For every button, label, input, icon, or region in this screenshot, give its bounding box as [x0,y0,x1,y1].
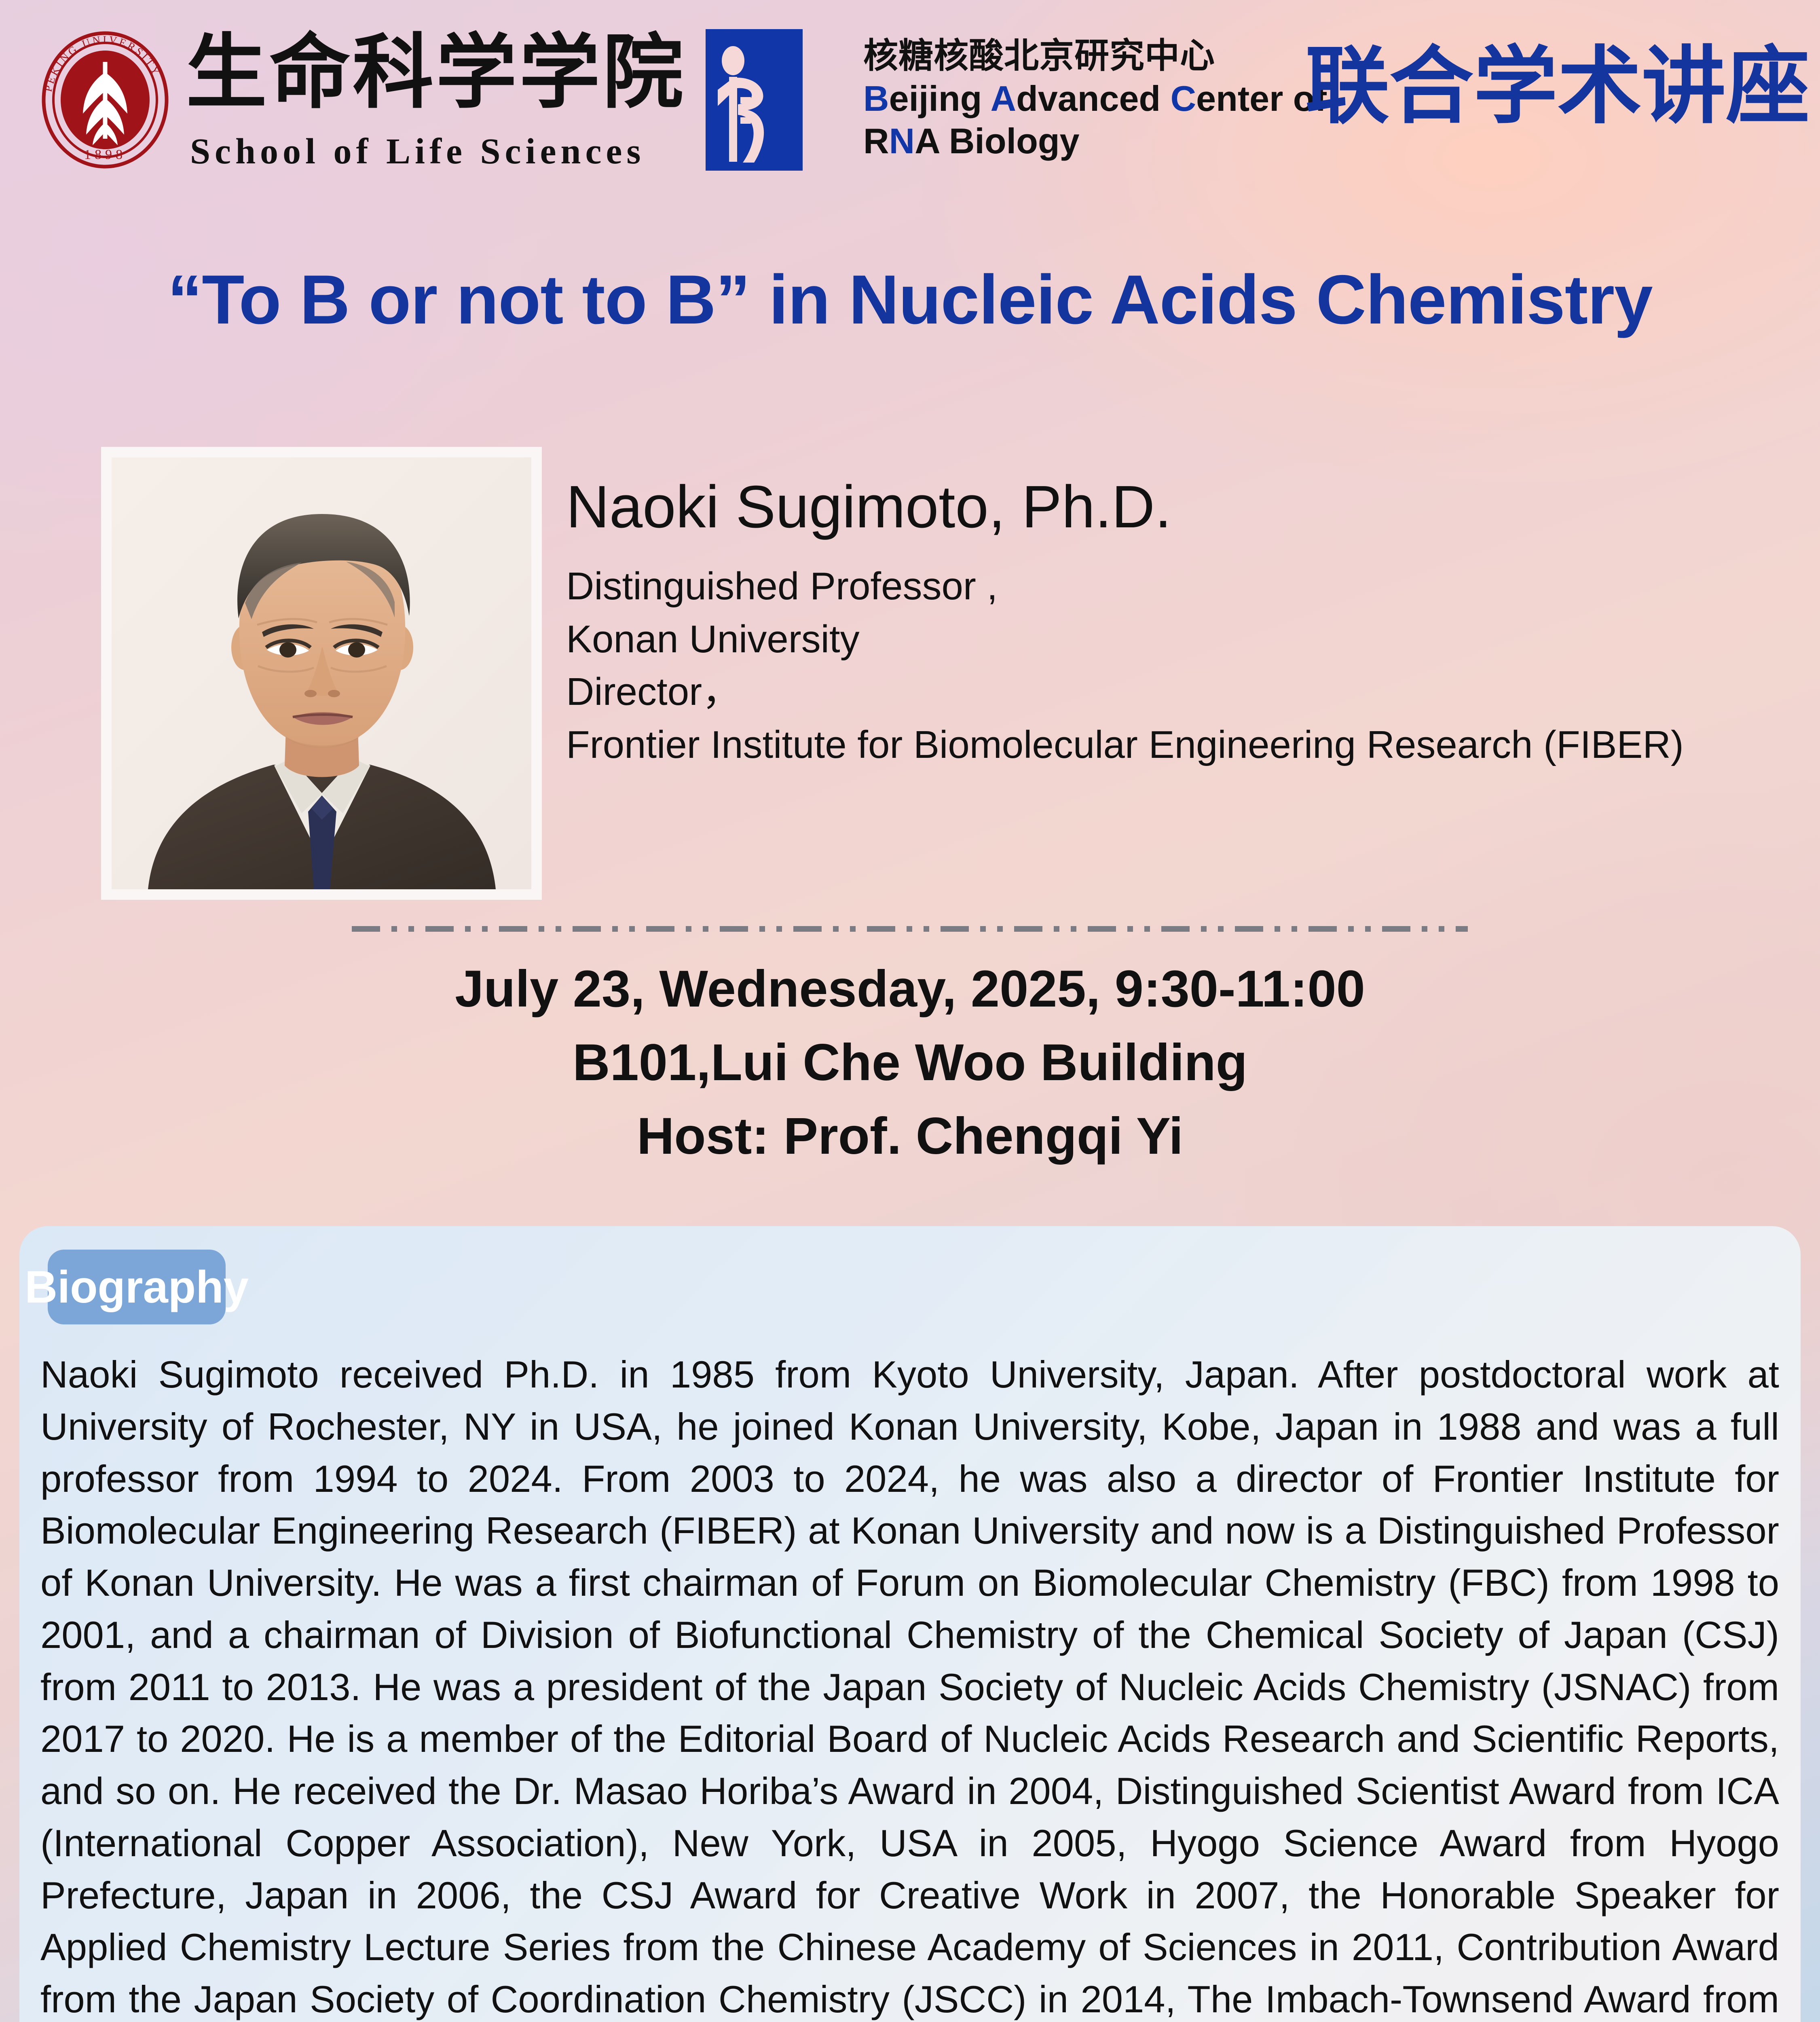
rna-center-logo-icon [706,29,803,171]
event-details: July 23, Wednesday, 2025, 9:30-11:00 B10… [0,952,1820,1173]
rna-center-name-english-line2: RNA Biology [863,123,1080,159]
speaker-portrait [101,447,542,900]
poster-header: PEKING UNIVERSITY 1898 生命科学学院 School of … [0,0,1820,190]
speaker-affiliation-line: Frontier Institute for Biomolecular Engi… [566,719,1684,772]
biography-text: Naoki Sugimoto received Ph.D. in 1985 fr… [40,1349,1779,2022]
biography-badge: Biography [48,1250,226,1324]
speaker-affiliation-line: Distinguished Professor , [566,560,1684,613]
event-datetime: July 23, Wednesday, 2025, 9:30-11:00 [0,952,1820,1026]
biography-badge-label: Biography [25,1265,249,1310]
event-venue: B101,Lui Che Woo Building [0,1026,1820,1100]
poster-page: PEKING UNIVERSITY 1898 生命科学学院 School of … [0,0,1820,2022]
section-divider [352,926,1468,932]
rna-center-name-chinese: 核糖核酸北京研究中心 [863,38,1215,73]
page-title: “To B or not to B” in Nucleic Acids Chem… [0,265,1820,334]
rna-center-name-english-line1: Beijing Advanced Center of [863,81,1327,116]
peking-university-seal-icon: PEKING UNIVERSITY 1898 [38,30,172,170]
joint-lecture-banner: 联合学术讲座 [1305,44,1810,129]
svg-text:1898: 1898 [84,147,126,162]
speaker-affiliation-line: Konan University [566,613,1684,666]
speaker-affiliations: Distinguished Professor , Konan Universi… [566,560,1684,771]
school-name-chinese: 生命科学学院 [186,32,686,113]
event-host: Host: Prof. Chengqi Yi [0,1100,1820,1173]
speaker-name: Naoki Sugimoto, Ph.D. [566,477,1171,537]
speaker-affiliation-line: Director， [566,666,1684,719]
school-name-english: School of Life Sciences [190,133,645,170]
